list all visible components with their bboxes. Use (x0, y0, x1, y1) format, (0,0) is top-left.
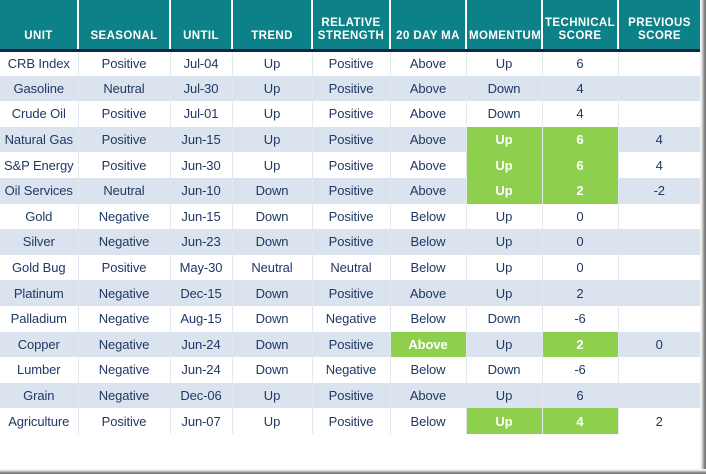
cell-until[interactable]: Aug-15 (170, 306, 232, 332)
column-header-momentum[interactable]: MOMENTUM (466, 0, 542, 50)
right-edge-shadow (700, 0, 706, 474)
cell-seasonal[interactable]: Negative (78, 306, 170, 332)
cell-momentum[interactable]: Up (466, 408, 542, 434)
cell-until[interactable]: Jun-23 (170, 229, 232, 255)
cell-technical-score[interactable]: 0 (542, 255, 618, 281)
cell-seasonal[interactable]: Neutral (78, 76, 170, 102)
cell-relative-strength[interactable]: Positive (312, 280, 390, 306)
cell-ma20[interactable]: Above (390, 101, 466, 127)
cell-until[interactable]: May-30 (170, 255, 232, 281)
cell-seasonal[interactable]: Positive (78, 152, 170, 178)
cell-relative-strength[interactable]: Neutral (312, 255, 390, 281)
cell-unit[interactable]: CRB Index (0, 50, 78, 76)
cell-ma20[interactable]: Below (390, 229, 466, 255)
cell-seasonal[interactable]: Positive (78, 50, 170, 76)
cell-trend[interactable]: Up (232, 50, 312, 76)
cell-previous-score[interactable] (618, 50, 700, 76)
table-row[interactable]: Gold BugPositiveMay-30NeutralNeutralBelo… (0, 255, 700, 281)
cell-seasonal[interactable]: Positive (78, 255, 170, 281)
cell-ma20[interactable]: Below (390, 255, 466, 281)
cell-momentum[interactable]: Up (466, 383, 542, 409)
cell-relative-strength[interactable]: Positive (312, 332, 390, 358)
cell-unit[interactable]: Oil Services (0, 178, 78, 204)
cell-seasonal[interactable]: Negative (78, 280, 170, 306)
cell-technical-score[interactable]: 2 (542, 280, 618, 306)
cell-unit[interactable]: Natural Gas (0, 127, 78, 153)
cell-previous-score[interactable] (618, 383, 700, 409)
cell-unit[interactable]: Silver (0, 229, 78, 255)
cell-ma20[interactable]: Above (390, 383, 466, 409)
table-row[interactable]: S&P EnergyPositiveJun-30UpPositiveAboveU… (0, 152, 700, 178)
cell-momentum[interactable]: Up (466, 178, 542, 204)
cell-momentum[interactable]: Up (466, 255, 542, 281)
cell-until[interactable]: Jul-01 (170, 101, 232, 127)
cell-until[interactable]: Jun-07 (170, 408, 232, 434)
cell-relative-strength[interactable]: Positive (312, 229, 390, 255)
cell-momentum[interactable]: Up (466, 127, 542, 153)
cell-until[interactable]: Dec-15 (170, 280, 232, 306)
cell-ma20[interactable]: Below (390, 408, 466, 434)
cell-trend[interactable]: Up (232, 152, 312, 178)
column-header-unit[interactable]: UNIT (0, 0, 78, 50)
cell-trend[interactable]: Down (232, 280, 312, 306)
cell-until[interactable]: Jun-30 (170, 152, 232, 178)
cell-previous-score[interactable] (618, 306, 700, 332)
cell-trend[interactable]: Down (232, 229, 312, 255)
table-row[interactable]: Natural GasPositiveJun-15UpPositiveAbove… (0, 127, 700, 153)
cell-trend[interactable]: Up (232, 76, 312, 102)
cell-seasonal[interactable]: Positive (78, 408, 170, 434)
cell-ma20[interactable]: Below (390, 357, 466, 383)
cell-relative-strength[interactable]: Positive (312, 204, 390, 230)
table-row[interactable]: Oil ServicesNeutralJun-10DownPositiveAbo… (0, 178, 700, 204)
cell-until[interactable]: Jul-30 (170, 76, 232, 102)
cell-trend[interactable]: Down (232, 357, 312, 383)
cell-technical-score[interactable]: -6 (542, 357, 618, 383)
table-row[interactable]: GrainNegativeDec-06UpPositiveAboveUp6 (0, 383, 700, 409)
bottom-edge-shadow (0, 469, 706, 474)
column-header-ma20[interactable]: 20 DAY MA (390, 0, 466, 50)
cell-seasonal[interactable]: Negative (78, 332, 170, 358)
table-row[interactable]: CRB IndexPositiveJul-04UpPositiveAboveUp… (0, 50, 700, 76)
cell-momentum[interactable]: Up (466, 332, 542, 358)
cell-trend[interactable]: Neutral (232, 255, 312, 281)
cell-trend[interactable]: Down (232, 332, 312, 358)
cell-relative-strength[interactable]: Positive (312, 50, 390, 76)
table-row[interactable]: GasolineNeutralJul-30UpPositiveAboveDown… (0, 76, 700, 102)
cell-previous-score[interactable]: -2 (618, 178, 700, 204)
cell-trend[interactable]: Up (232, 127, 312, 153)
cell-technical-score[interactable]: 6 (542, 383, 618, 409)
cell-previous-score[interactable]: 4 (618, 152, 700, 178)
cell-relative-strength[interactable]: Positive (312, 127, 390, 153)
table-filler-row (0, 434, 700, 452)
cell-momentum[interactable]: Up (466, 152, 542, 178)
cell-technical-score[interactable]: 6 (542, 50, 618, 76)
cell-unit[interactable]: Grain (0, 383, 78, 409)
cell-relative-strength[interactable]: Positive (312, 383, 390, 409)
cell-trend[interactable]: Up (232, 383, 312, 409)
cell-relative-strength[interactable]: Positive (312, 76, 390, 102)
column-header-relative-strength[interactable]: RELATIVE STRENGTH (312, 0, 390, 50)
table-row[interactable]: GoldNegativeJun-15DownPositiveBelowUp0 (0, 204, 700, 230)
cell-ma20[interactable]: Below (390, 204, 466, 230)
cell-technical-score[interactable]: 2 (542, 178, 618, 204)
cell-momentum[interactable]: Up (466, 204, 542, 230)
table-body: CRB IndexPositiveJul-04UpPositiveAboveUp… (0, 50, 700, 452)
column-header-until[interactable]: UNTIL (170, 0, 232, 50)
cell-technical-score[interactable]: -6 (542, 306, 618, 332)
cell-trend[interactable]: Up (232, 408, 312, 434)
table-row[interactable]: CopperNegativeJun-24DownPositiveAboveUp2… (0, 332, 700, 358)
cell-ma20[interactable]: Above (390, 76, 466, 102)
table-header: UNITSEASONALUNTILTRENDRELATIVE STRENGTH2… (0, 0, 700, 50)
cell-seasonal[interactable]: Negative (78, 229, 170, 255)
cell-previous-score[interactable] (618, 280, 700, 306)
table-row[interactable]: PalladiumNegativeAug-15DownNegativeBelow… (0, 306, 700, 332)
cell-trend[interactable]: Up (232, 101, 312, 127)
cell-unit[interactable]: Crude Oil (0, 101, 78, 127)
cell-previous-score[interactable] (618, 76, 700, 102)
cell-momentum[interactable]: Down (466, 101, 542, 127)
table-row[interactable]: SilverNegativeJun-23DownPositiveBelowUp0 (0, 229, 700, 255)
cell-seasonal[interactable]: Negative (78, 383, 170, 409)
header-row: UNITSEASONALUNTILTRENDRELATIVE STRENGTH2… (0, 0, 700, 50)
commodity-technical-scorecard-table: UNITSEASONALUNTILTRENDRELATIVE STRENGTH2… (0, 0, 700, 452)
cell-technical-score[interactable]: 0 (542, 204, 618, 230)
cell-relative-strength[interactable]: Positive (312, 101, 390, 127)
cell-unit[interactable]: S&P Energy (0, 152, 78, 178)
cell-seasonal[interactable]: Positive (78, 127, 170, 153)
cell-relative-strength[interactable]: Positive (312, 408, 390, 434)
cell-relative-strength[interactable]: Positive (312, 178, 390, 204)
cell-until[interactable]: Jun-15 (170, 204, 232, 230)
cell-ma20[interactable]: Below (390, 306, 466, 332)
cell-trend[interactable]: Down (232, 178, 312, 204)
table-row[interactable]: Crude OilPositiveJul-01UpPositiveAboveDo… (0, 101, 700, 127)
cell-until[interactable]: Jun-24 (170, 357, 232, 383)
cell-seasonal[interactable]: Negative (78, 204, 170, 230)
cell-momentum[interactable]: Down (466, 306, 542, 332)
cell-momentum[interactable]: Down (466, 76, 542, 102)
cell-unit[interactable]: Gold (0, 204, 78, 230)
cell-unit[interactable]: Gasoline (0, 76, 78, 102)
cell-previous-score[interactable] (618, 204, 700, 230)
cell-previous-score[interactable] (618, 229, 700, 255)
cell-ma20[interactable]: Above (390, 332, 466, 358)
column-header-trend[interactable]: TREND (232, 0, 312, 50)
cell-unit[interactable]: Copper (0, 332, 78, 358)
cell-relative-strength[interactable]: Negative (312, 357, 390, 383)
cell-relative-strength[interactable]: Negative (312, 306, 390, 332)
cell-momentum[interactable]: Up (466, 229, 542, 255)
cell-unit[interactable]: Agriculture (0, 408, 78, 434)
cell-trend[interactable]: Down (232, 306, 312, 332)
cell-technical-score[interactable]: 6 (542, 152, 618, 178)
cell-momentum[interactable]: Down (466, 357, 542, 383)
cell-until[interactable]: Jun-10 (170, 178, 232, 204)
table-row[interactable]: PlatinumNegativeDec-15DownPositiveAboveU… (0, 280, 700, 306)
cell-until[interactable]: Dec-06 (170, 383, 232, 409)
spreadsheet-table-image: UNITSEASONALUNTILTRENDRELATIVE STRENGTH2… (0, 0, 706, 474)
cell-until[interactable]: Jul-04 (170, 50, 232, 76)
column-header-seasonal[interactable]: SEASONAL (78, 0, 170, 50)
table-row[interactable]: AgriculturePositiveJun-07UpPositiveBelow… (0, 408, 700, 434)
cell-ma20[interactable]: Above (390, 152, 466, 178)
cell-until[interactable]: Jun-24 (170, 332, 232, 358)
cell-ma20[interactable]: Above (390, 178, 466, 204)
cell-technical-score[interactable]: 2 (542, 332, 618, 358)
cell-seasonal[interactable]: Positive (78, 101, 170, 127)
cell-technical-score[interactable]: 4 (542, 408, 618, 434)
cell-momentum[interactable]: Up (466, 280, 542, 306)
table-row[interactable]: LumberNegativeJun-24DownNegativeBelowDow… (0, 357, 700, 383)
cell-technical-score[interactable]: 4 (542, 76, 618, 102)
cell-unit[interactable]: Palladium (0, 306, 78, 332)
cell-technical-score[interactable]: 4 (542, 101, 618, 127)
cell-previous-score[interactable] (618, 101, 700, 127)
cell-previous-score[interactable]: 2 (618, 408, 700, 434)
cell-relative-strength[interactable]: Positive (312, 152, 390, 178)
cell-ma20[interactable]: Above (390, 127, 466, 153)
cell-previous-score[interactable]: 0 (618, 332, 700, 358)
cell-until[interactable]: Jun-15 (170, 127, 232, 153)
cell-previous-score[interactable]: 4 (618, 127, 700, 153)
cell-technical-score[interactable]: 6 (542, 127, 618, 153)
cell-ma20[interactable]: Above (390, 280, 466, 306)
cell-trend[interactable]: Down (232, 204, 312, 230)
column-header-previous-score[interactable]: PREVIOUS SCORE (618, 0, 700, 50)
cell-previous-score[interactable] (618, 255, 700, 281)
cell-seasonal[interactable]: Neutral (78, 178, 170, 204)
cell-unit[interactable]: Platinum (0, 280, 78, 306)
cell-momentum[interactable]: Up (466, 50, 542, 76)
cell-seasonal[interactable]: Negative (78, 357, 170, 383)
cell-previous-score[interactable] (618, 357, 700, 383)
cell-ma20[interactable]: Above (390, 50, 466, 76)
cell-unit[interactable]: Lumber (0, 357, 78, 383)
cell-unit[interactable]: Gold Bug (0, 255, 78, 281)
cell-technical-score[interactable]: 0 (542, 229, 618, 255)
column-header-technical-score[interactable]: TECHNICAL SCORE (542, 0, 618, 50)
